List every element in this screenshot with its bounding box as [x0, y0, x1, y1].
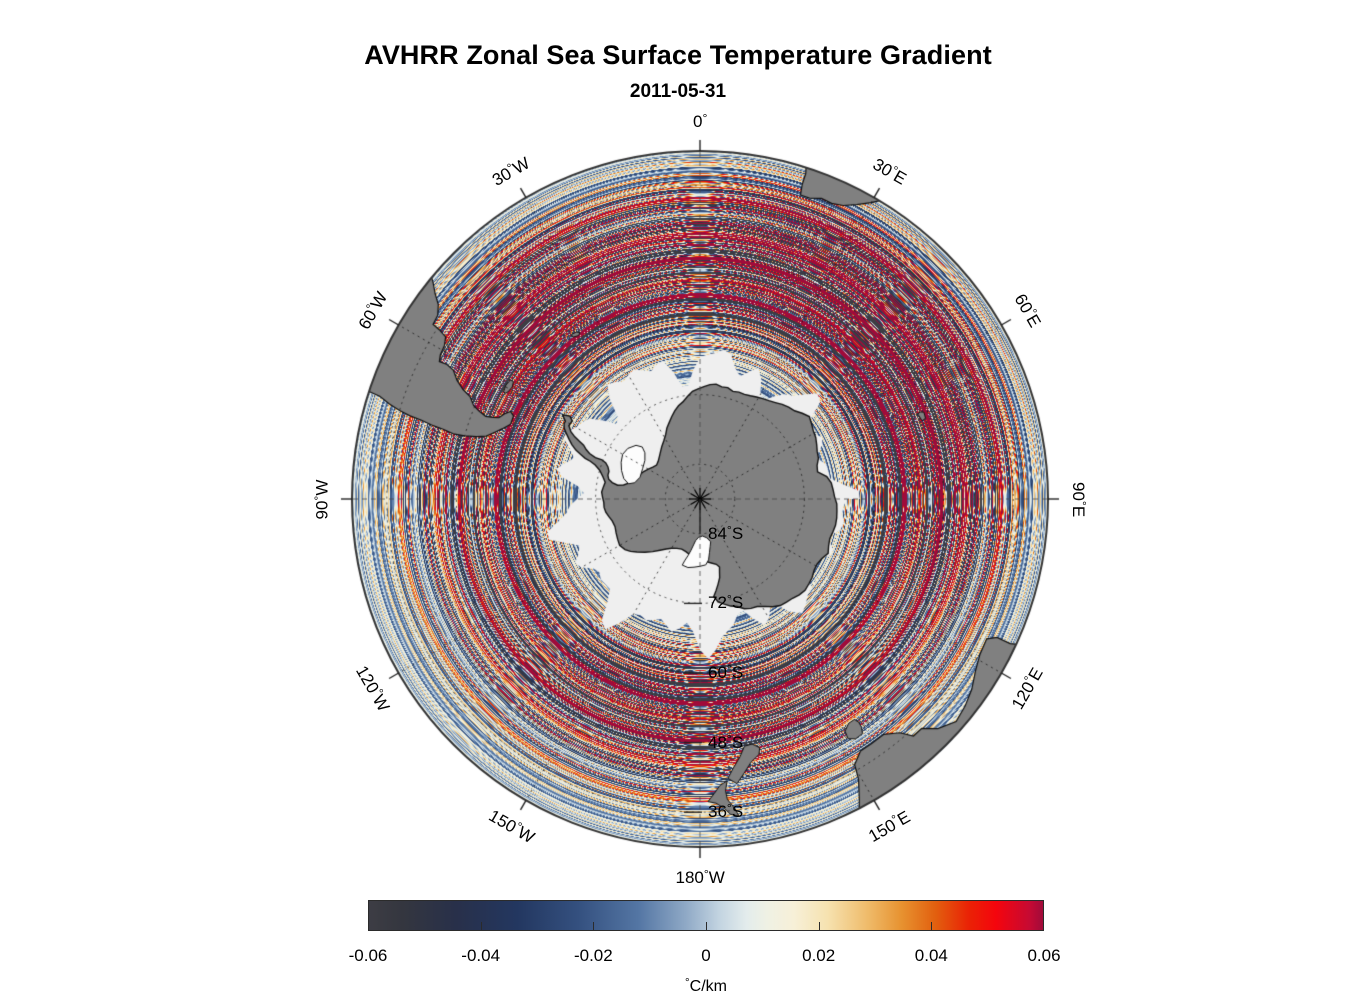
colorbar-ticks: [368, 931, 1044, 943]
colorbar: -0.06-0.04-0.0200.020.040.06 °C/km: [368, 900, 1044, 996]
colorbar-tick-label: -0.06: [349, 946, 388, 966]
colorbar-tick: [481, 922, 482, 931]
colorbar-tick: [593, 922, 594, 931]
colorbar-tick-label: -0.02: [574, 946, 613, 966]
colorbar-tick-label: 0: [701, 946, 710, 966]
colorbar-tick: [706, 922, 707, 931]
colorbar-tick: [819, 922, 820, 931]
colorbar-tick-labels: -0.06-0.04-0.0200.020.040.06: [368, 946, 1044, 970]
colorbar-tick-label: -0.04: [461, 946, 500, 966]
colorbar-unit-label: °C/km: [368, 977, 1044, 996]
colorbar-tick: [1043, 922, 1044, 931]
colorbar-tick-label: 0.06: [1027, 946, 1060, 966]
colorbar-tick-label: 0.04: [915, 946, 948, 966]
colorbar-tick: [931, 922, 932, 931]
sst-gradient-heatmap-canvas: [0, 0, 1356, 880]
polar-map: 0°30°E60°E90°E120°E150°E180°W150°W120°W9…: [0, 0, 1356, 880]
colorbar-tick-label: 0.02: [802, 946, 835, 966]
